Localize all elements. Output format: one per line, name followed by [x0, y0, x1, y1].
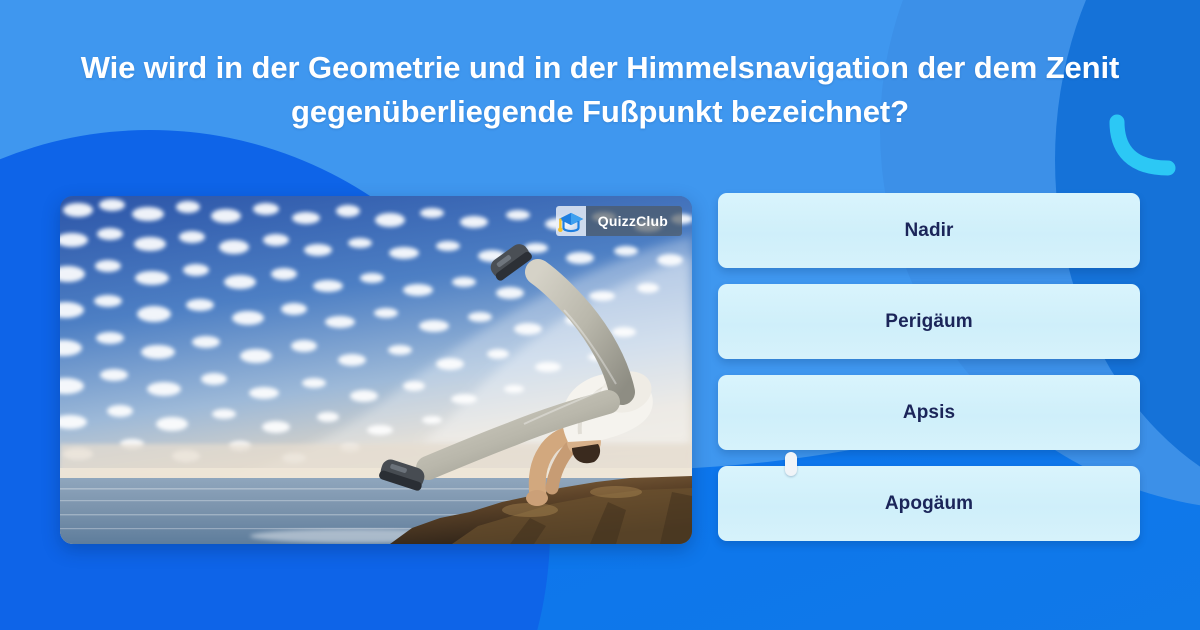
answer-options-list: Nadir Perigäum Apsis Apogäum — [718, 193, 1140, 541]
answer-option-label: Perigäum — [885, 311, 972, 333]
graduation-cap-icon — [556, 206, 586, 236]
question-body: QuizzClub Nadir Perigäum Apsis Apogäum — [0, 193, 1200, 553]
watermark-label: QuizzClub — [586, 206, 682, 236]
answer-option-label: Nadir — [904, 220, 953, 242]
answer-option-2[interactable]: Perigäum — [718, 284, 1140, 359]
answer-option-1[interactable]: Nadir — [718, 193, 1140, 268]
question-image[interactable]: QuizzClub — [60, 196, 692, 544]
question-headline: Wie wird in der Geometrie und in der Him… — [60, 46, 1140, 134]
answer-option-4[interactable]: Apogäum — [718, 466, 1140, 541]
watermark-badge: QuizzClub — [556, 206, 682, 236]
answer-option-label: Apsis — [903, 402, 955, 424]
scroll-indicator-nub[interactable] — [785, 452, 797, 476]
answer-option-label: Apogäum — [885, 493, 973, 515]
quiz-question-card: Wie wird in der Geometrie und in der Him… — [0, 0, 1200, 630]
answer-option-3[interactable]: Apsis — [718, 375, 1140, 450]
